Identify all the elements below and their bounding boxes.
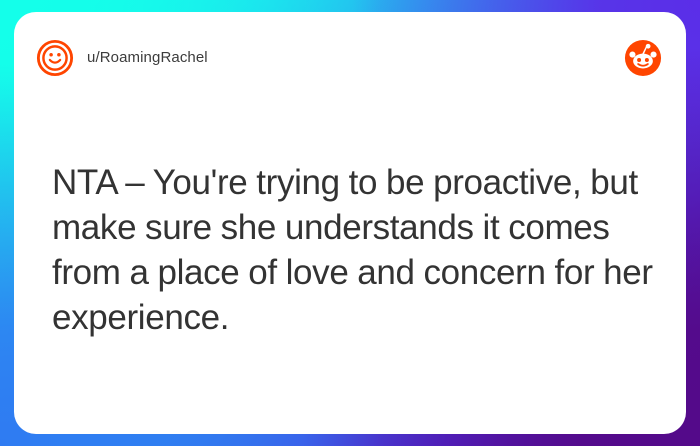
reddit-comment-card: u/RoamingRachel NTA – You'r: [14, 12, 686, 434]
smiley-face-avatar-icon[interactable]: [36, 39, 74, 77]
screenshot-root: u/RoamingRachel NTA – You'r: [0, 0, 700, 446]
author-username: u/RoamingRachel: [87, 49, 208, 67]
author-group[interactable]: u/RoamingRachel: [36, 39, 624, 77]
card-body: NTA – You're trying to be proactive, but…: [52, 160, 660, 340]
comment-text: NTA – You're trying to be proactive, but…: [52, 160, 660, 340]
card-header: u/RoamingRachel: [14, 12, 686, 104]
reddit-snoo-logo-icon[interactable]: [624, 39, 662, 77]
